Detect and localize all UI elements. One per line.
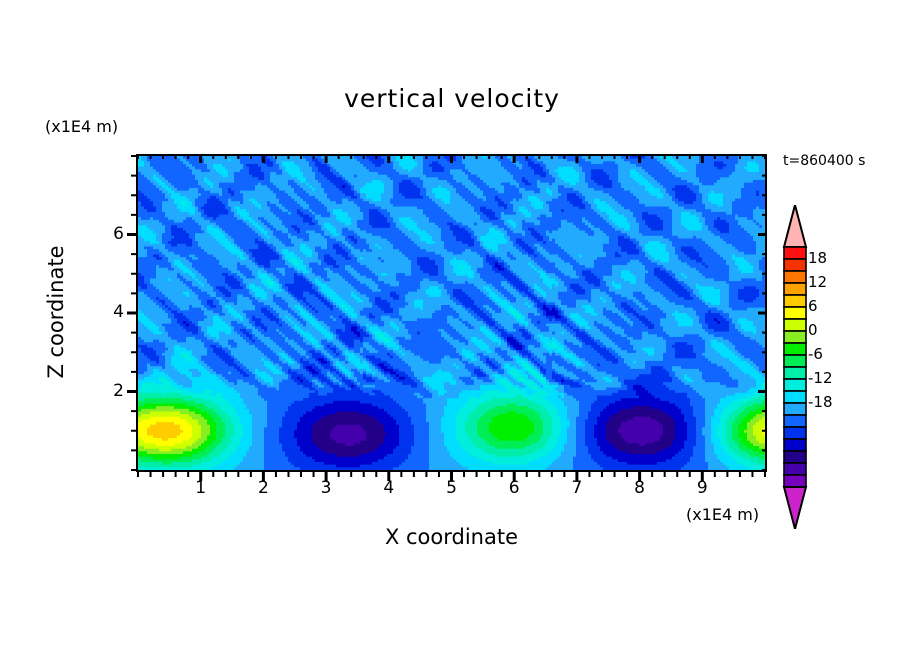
colorbar-tick-label: 0 [808,321,818,339]
colorbar-band [784,295,806,307]
colorbar-band [784,259,806,271]
colorbar-band [784,319,806,331]
colorbar-band [784,391,806,403]
colorbar-band [784,415,806,427]
colorbar-band [784,439,806,451]
colorbar-band [784,475,806,487]
colorbar: 181260-6-12-18 [782,205,904,533]
colorbar-band [784,355,806,367]
colorbar-tick-label: -18 [808,393,833,411]
colorbar-scale [782,205,808,529]
colorbar-tick-label: 12 [808,273,827,291]
colorbar-band [784,307,806,319]
colorbar-band [784,463,806,475]
colorbar-band [784,367,806,379]
colorbar-band [784,271,806,283]
axis-tickmarks [0,0,904,654]
colorbar-tick-label: 18 [808,249,827,267]
colorbar-band [784,427,806,439]
colorbar-band [784,379,806,391]
colorbar-tick-label: -6 [808,345,823,363]
colorbar-tick-label: 6 [808,297,818,315]
colorbar-band [784,403,806,415]
colorbar-tick-label: -12 [808,369,833,387]
colorbar-band [784,343,806,355]
colorbar-band [784,331,806,343]
colorbar-band [784,283,806,295]
colorbar-band [784,247,806,259]
colorbar-band [784,451,806,463]
